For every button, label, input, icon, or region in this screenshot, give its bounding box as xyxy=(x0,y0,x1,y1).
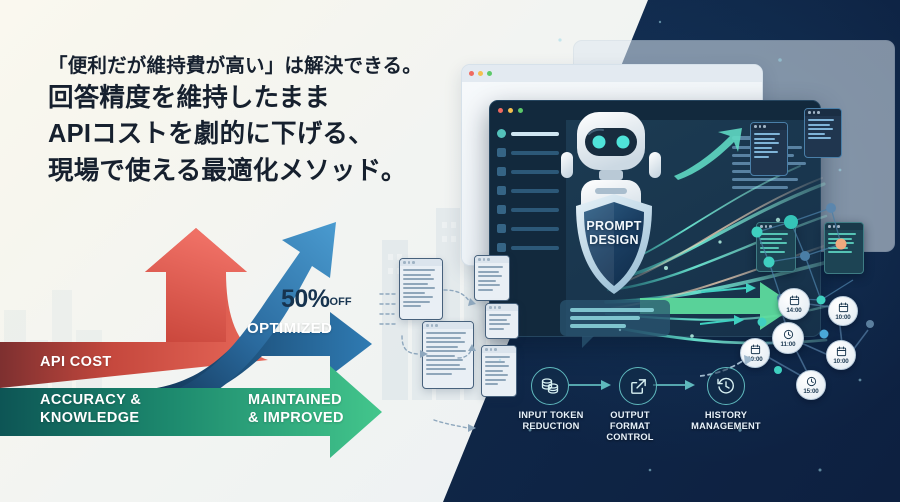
traffic-light-close-icon[interactable] xyxy=(469,71,474,76)
sidebar-item-5[interactable] xyxy=(497,224,559,233)
chat-bubble-icon xyxy=(560,296,670,354)
time-node-1[interactable]: 10:00 xyxy=(828,296,858,326)
pipeline-icon-input-token-reduction[interactable] xyxy=(531,367,569,405)
time-node-label-4: 10:00 xyxy=(833,358,848,365)
external-link-icon xyxy=(629,377,648,396)
time-node-4[interactable]: 10:00 xyxy=(826,340,856,370)
sidebar-item-label-bar xyxy=(511,151,559,155)
sidebar-item-label-bar xyxy=(511,246,559,250)
document-card-titlebar xyxy=(805,109,841,116)
shield-label-line-1: PROMPT xyxy=(572,219,656,233)
pipeline-label-3-line-2: MANAGEMENT xyxy=(667,421,785,432)
pipeline-label-1-line-2: REDUCTION xyxy=(503,421,599,432)
pipeline-icon-history-management[interactable] xyxy=(707,367,745,405)
pipeline-label-3-line-1: HISTORY xyxy=(667,410,785,421)
pipeline-label-1-line-1: INPUT TOKEN xyxy=(503,410,599,421)
traffic-light-maximize-icon[interactable] xyxy=(518,108,523,113)
label-accuracy-line-1: ACCURACY & xyxy=(40,392,141,410)
calendar-icon xyxy=(838,302,849,313)
pipeline-steps: INPUT TOKEN REDUCTION OUTPUT FORMAT CONT… xyxy=(525,366,765,442)
label-maintained-line-2: & IMPROVED xyxy=(248,410,344,428)
sidebar-item-3[interactable] xyxy=(497,186,559,195)
label-maintained-line-1: MAINTAINED xyxy=(248,392,344,410)
sidebar-item-4[interactable] xyxy=(497,205,559,214)
pipeline-label-3: HISTORY MANAGEMENT xyxy=(667,410,785,432)
shield-label-line-2: DESIGN xyxy=(572,233,656,247)
pipeline-label-2: OUTPUT FORMAT CONTROL xyxy=(597,410,663,443)
discount-value: 50% xyxy=(281,285,330,313)
sidebar-item-label-bar xyxy=(511,208,559,212)
discount-suffix: OFF xyxy=(330,296,352,308)
sidebar-item-2[interactable] xyxy=(497,167,559,176)
clock-icon xyxy=(497,224,506,233)
sidebar-item-1[interactable] xyxy=(497,148,559,157)
document-card-lines xyxy=(751,130,787,163)
sidebar-item-label-bar xyxy=(511,189,559,193)
coins-stack-icon xyxy=(540,376,560,396)
sidebar-item-label-bar xyxy=(511,132,559,136)
shield-label: PROMPT DESIGN xyxy=(572,219,656,248)
gear-icon xyxy=(497,205,506,214)
user-icon xyxy=(497,148,506,157)
label-accuracy-knowledge: ACCURACY & KNOWLEDGE xyxy=(40,392,141,427)
home-icon xyxy=(497,129,506,138)
chat-icon xyxy=(497,167,506,176)
clock-icon xyxy=(806,376,817,387)
label-optimized: OPTIMIZED xyxy=(247,320,332,337)
label-api-cost: API COST xyxy=(40,354,112,370)
history-clock-icon xyxy=(716,376,736,396)
label-accuracy-line-2: KNOWLEDGE xyxy=(40,410,141,428)
calendar-icon xyxy=(789,295,800,306)
traffic-light-minimize-icon[interactable] xyxy=(508,108,513,113)
hero-banner: 「便利だが維持費が高い」は解決できる。 回答精度を維持したまま APIコストを劇… xyxy=(0,0,900,502)
pipeline-label-2-line-3: CONTROL xyxy=(597,432,663,443)
document-card-titlebar xyxy=(751,123,787,130)
calendar-icon xyxy=(836,346,847,357)
info-icon xyxy=(497,186,506,195)
dotted-connectors-decoration xyxy=(372,250,522,450)
traffic-light-minimize-icon[interactable] xyxy=(478,71,483,76)
pipeline-icon-output-format-control[interactable] xyxy=(619,367,657,405)
time-node-label-5: 15:00 xyxy=(803,388,818,395)
sidebar-item-0[interactable] xyxy=(497,129,559,138)
label-discount: 50%OFF xyxy=(281,285,352,314)
time-node-5[interactable]: 15:00 xyxy=(796,370,826,400)
traffic-light-maximize-icon[interactable] xyxy=(487,71,492,76)
pipeline-label-2-line-1: OUTPUT xyxy=(597,410,663,421)
document-card xyxy=(804,108,842,158)
document-card-lines xyxy=(805,116,841,145)
time-node-label-1: 10:00 xyxy=(835,314,850,321)
label-maintained-improved: MAINTAINED & IMPROVED xyxy=(248,392,344,427)
browser-titlebar-back xyxy=(462,65,762,82)
sidebar-item-label-bar xyxy=(511,227,559,231)
pipeline-label-1: INPUT TOKEN REDUCTION xyxy=(503,410,599,432)
traffic-light-close-icon[interactable] xyxy=(498,108,503,113)
pipeline-label-2-line-2: FORMAT xyxy=(597,421,663,432)
sidebar-item-label-bar xyxy=(511,170,559,174)
